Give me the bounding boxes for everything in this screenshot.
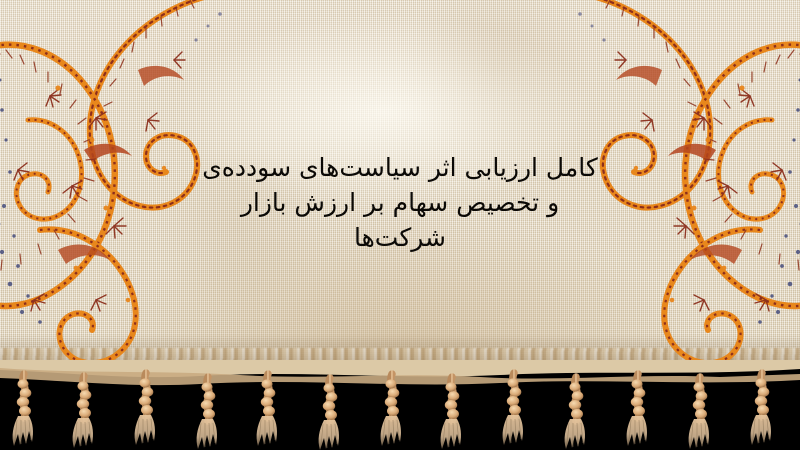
- tassel-fringe: [0, 360, 800, 450]
- title-line-1: کامل ارزیابی اثر سیاست‌های سودده‌ی: [170, 150, 630, 185]
- title-line-2: و تخصیص سهام بر ارزش بازار: [170, 185, 630, 220]
- title-line-3: شرکت‌ها: [170, 220, 630, 255]
- title-slide: کامل ارزیابی اثر سیاست‌های سودده‌ی و تخص…: [0, 0, 800, 450]
- slide-title: کامل ارزیابی اثر سیاست‌های سودده‌ی و تخص…: [0, 150, 800, 255]
